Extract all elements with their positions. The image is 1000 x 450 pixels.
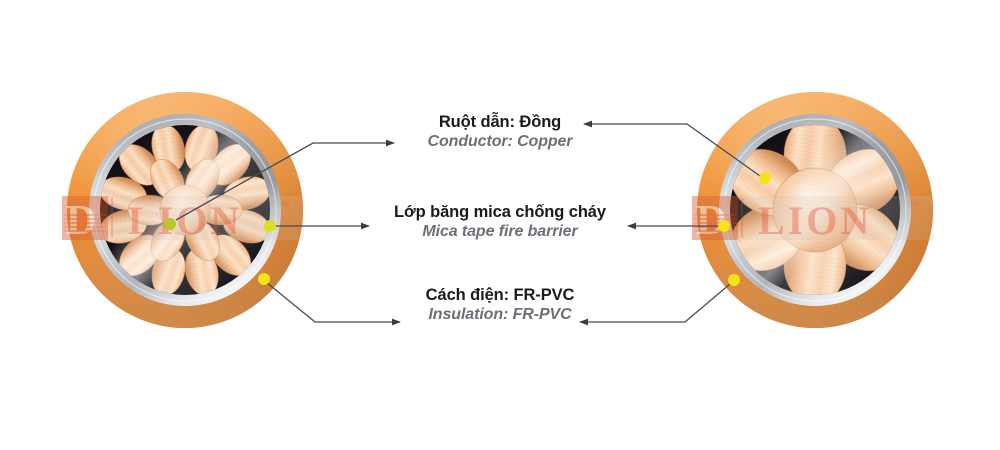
label-insulation-vn: Cách điện: FR-PVC <box>0 285 1000 305</box>
label-mica: Lớp băng mica chống cháy Mica tape fire … <box>0 202 1000 242</box>
label-insulation: Cách điện: FR-PVC Insulation: FR-PVC <box>0 285 1000 325</box>
label-conductor: Ruột dẫn: Đồng Conductor: Copper <box>0 112 1000 152</box>
label-conductor-vn: Ruột dẫn: Đồng <box>0 112 1000 132</box>
right-conductor-dot <box>759 172 771 184</box>
diagram-canvas: D LION ® D LION ® <box>0 0 1000 450</box>
left-insulation-dot <box>258 273 270 285</box>
label-conductor-en: Conductor: Copper <box>0 132 1000 152</box>
label-mica-vn: Lớp băng mica chống cháy <box>0 202 1000 222</box>
label-insulation-en: Insulation: FR-PVC <box>0 305 1000 325</box>
label-mica-en: Mica tape fire barrier <box>0 222 1000 242</box>
